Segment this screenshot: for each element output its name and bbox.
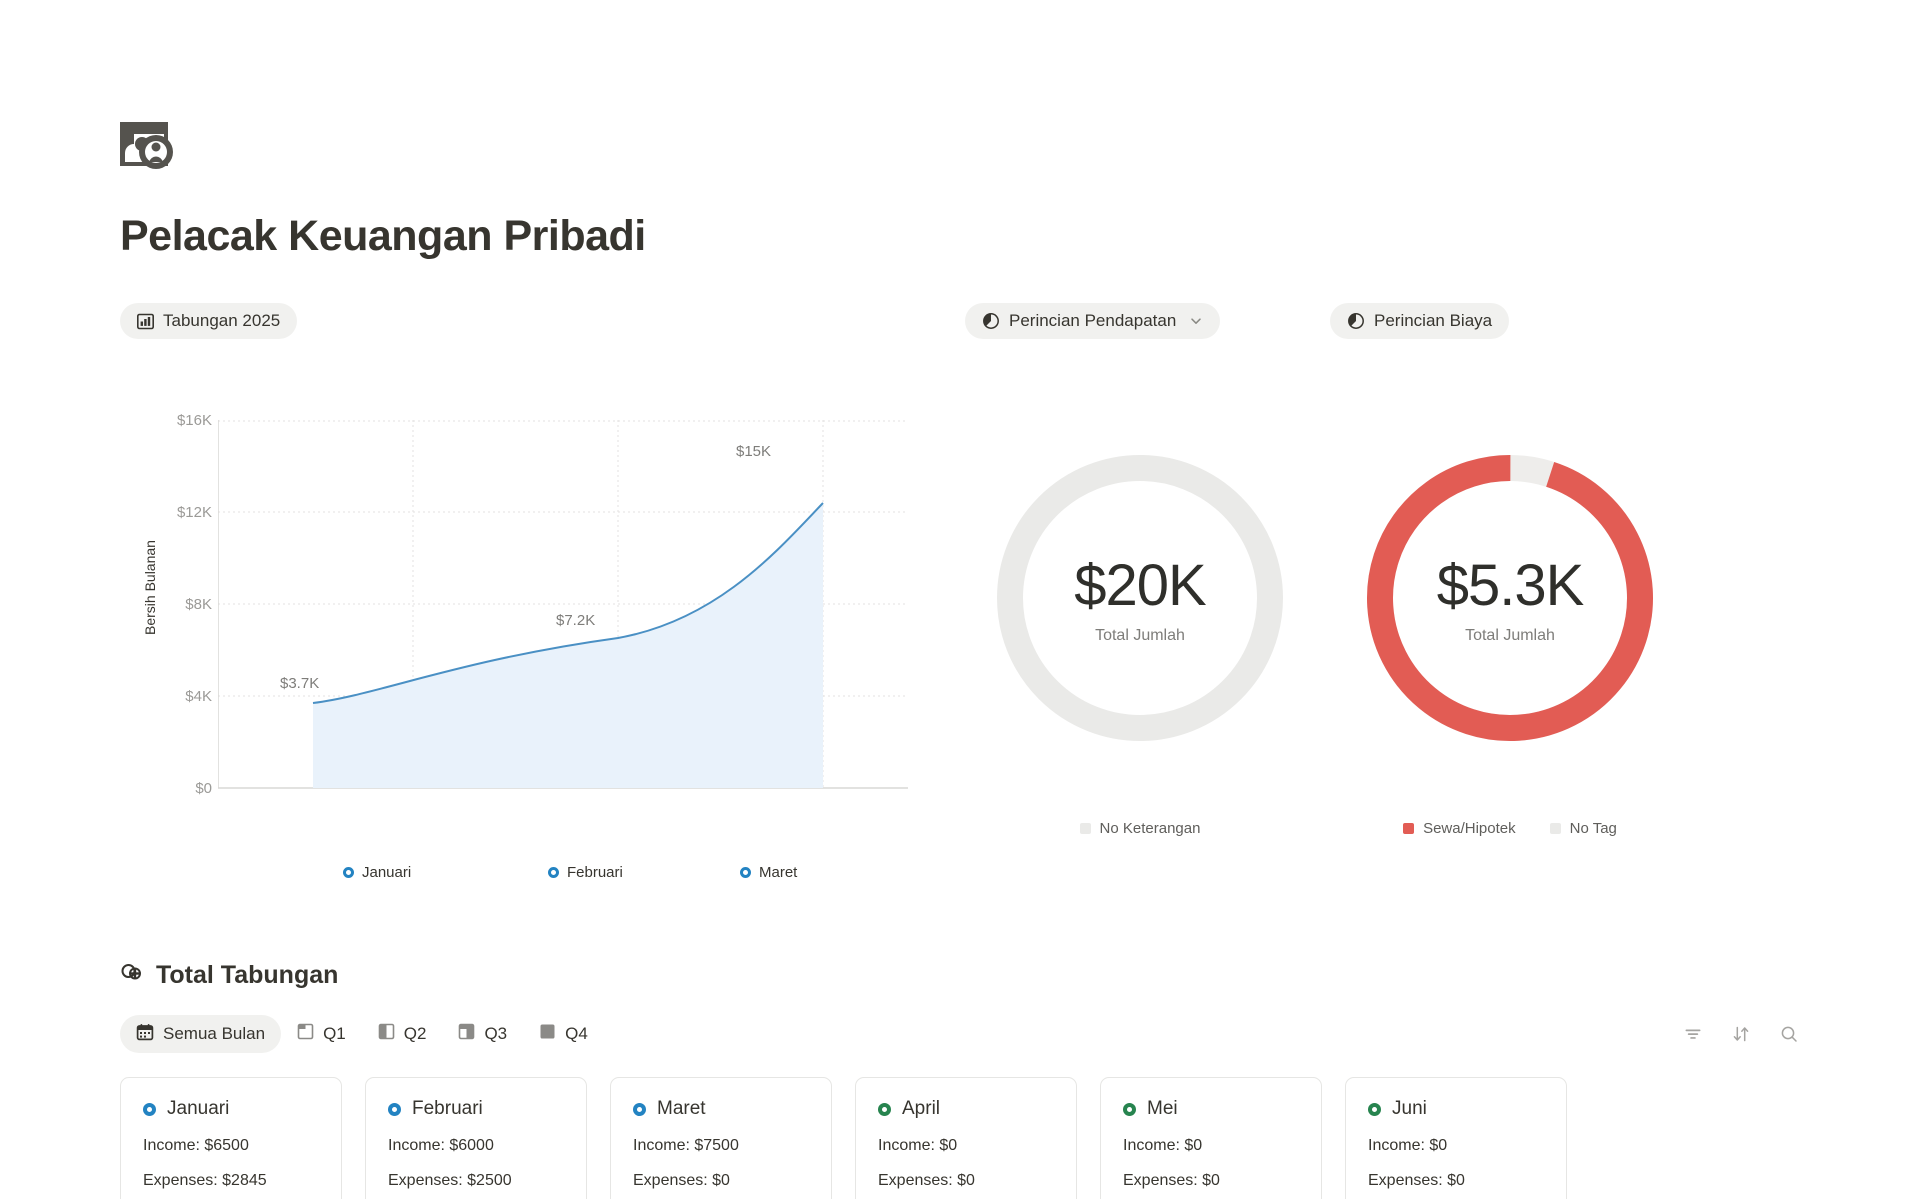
tab-semua-bulan[interactable]: Semua Bulan bbox=[120, 1015, 281, 1053]
card-expenses: Expenses: $0 bbox=[1123, 1172, 1299, 1190]
tab-tabungan-2025[interactable]: Tabungan 2025 bbox=[120, 303, 297, 339]
legend-item-maret[interactable]: Maret bbox=[740, 864, 797, 881]
savings-icon bbox=[120, 960, 144, 991]
tab-q1[interactable]: Q1 bbox=[281, 1015, 362, 1053]
tab-biaya-label: Perincian Biaya bbox=[1374, 311, 1492, 331]
card-month: Mei bbox=[1147, 1098, 1178, 1120]
legend-item-no-tag[interactable]: No Tag bbox=[1550, 820, 1617, 837]
legend-swatch-icon bbox=[1403, 823, 1414, 834]
list-item[interactable]: April Income: $0 Expenses: $0 bbox=[855, 1077, 1077, 1199]
card-month: Maret bbox=[657, 1098, 706, 1120]
month-marker-icon bbox=[878, 1103, 891, 1116]
savings-area-chart: Bersih Bulanan $16K $12K $8K $4K $0 bbox=[120, 420, 910, 920]
card-income: Income: $7500 bbox=[633, 1137, 809, 1155]
section-title-label: Total Tabungan bbox=[156, 961, 338, 990]
card-expenses: Expenses: $0 bbox=[1368, 1172, 1544, 1190]
expense-total-label: Total Jumlah bbox=[1465, 627, 1555, 645]
search-icon[interactable] bbox=[1778, 1023, 1800, 1045]
y-tick: $0 bbox=[120, 780, 212, 797]
widget-pills-row: Tabungan 2025 Perincian Pendapatan Perin… bbox=[120, 303, 1800, 339]
expense-donut-legend: Sewa/Hipotek No Tag bbox=[1300, 820, 1720, 837]
card-income: Income: $0 bbox=[1368, 1137, 1544, 1155]
income-donut-chart: $20K Total Jumlah bbox=[990, 448, 1290, 748]
legend-label: Februari bbox=[567, 864, 623, 881]
month-marker-icon bbox=[1368, 1103, 1381, 1116]
y-tick: $12K bbox=[120, 504, 212, 521]
card-month: Januari bbox=[167, 1098, 229, 1120]
total-tabungan-section: Total Tabungan Semua Bulan Q1 Q2 bbox=[120, 960, 1800, 1199]
card-expenses: Expenses: $0 bbox=[633, 1172, 809, 1190]
legend-label: Januari bbox=[362, 864, 411, 881]
section-header: Total Tabungan bbox=[120, 960, 1800, 991]
legend-label: No Tag bbox=[1570, 820, 1617, 837]
month-marker-icon bbox=[388, 1103, 401, 1116]
tab-tabungan-label: Tabungan 2025 bbox=[163, 311, 280, 331]
expense-total-value: $5.3K bbox=[1437, 552, 1584, 619]
tab-label: Q3 bbox=[484, 1024, 507, 1044]
list-item[interactable]: Juni Income: $0 Expenses: $0 bbox=[1345, 1077, 1567, 1199]
card-income: Income: $0 bbox=[878, 1137, 1054, 1155]
y-tick: $8K bbox=[120, 596, 212, 613]
expense-donut-chart: $5.3K Total Jumlah bbox=[1360, 448, 1660, 748]
month-tabs: Semua Bulan Q1 Q2 Q3 bbox=[120, 1015, 1800, 1053]
legend-item-sewa-hipotek[interactable]: Sewa/Hipotek bbox=[1403, 820, 1516, 837]
tab-perincian-biaya[interactable]: Perincian Biaya bbox=[1330, 303, 1509, 339]
month-marker-icon bbox=[633, 1103, 646, 1116]
month-marker-icon bbox=[1123, 1103, 1136, 1116]
legend-label: Sewa/Hipotek bbox=[1423, 820, 1516, 837]
card-expenses: Expenses: $2845 bbox=[143, 1172, 319, 1190]
filter-icon[interactable] bbox=[1682, 1023, 1704, 1045]
tab-label: Semua Bulan bbox=[163, 1024, 265, 1044]
legend-swatch-icon bbox=[1080, 823, 1091, 834]
month-cards: Januari Income: $6500 Expenses: $2845 Fe… bbox=[120, 1077, 1800, 1199]
legend-marker-icon bbox=[343, 867, 354, 878]
page-title: Pelacak Keuangan Pribadi bbox=[120, 212, 1800, 261]
table-toolbar bbox=[1682, 1023, 1800, 1045]
point-label: $7.2K bbox=[556, 612, 595, 629]
chevron-down-icon[interactable] bbox=[1189, 314, 1203, 328]
quarter-3-icon bbox=[458, 1023, 475, 1045]
quarter-2-icon bbox=[378, 1023, 395, 1045]
sort-icon[interactable] bbox=[1730, 1023, 1752, 1045]
tab-q2[interactable]: Q2 bbox=[362, 1015, 443, 1053]
legend-marker-icon bbox=[548, 867, 559, 878]
tab-perincian-pendapatan[interactable]: Perincian Pendapatan bbox=[965, 303, 1220, 339]
income-donut-widget: $20K Total Jumlah No Keterangan bbox=[930, 420, 1350, 920]
card-month: April bbox=[902, 1098, 940, 1120]
expense-donut-widget: $5.3K Total Jumlah Sewa/Hipotek No Tag bbox=[1300, 420, 1720, 920]
point-label: $15K bbox=[736, 443, 771, 460]
income-total-value: $20K bbox=[1074, 552, 1205, 619]
point-label: $3.7K bbox=[280, 675, 319, 692]
pie-chart-icon bbox=[982, 312, 1000, 330]
chart-y-axis: $16K $12K $8K $4K $0 bbox=[120, 420, 212, 870]
card-month: Februari bbox=[412, 1098, 483, 1120]
legend-label: No Keterangan bbox=[1100, 820, 1201, 837]
pie-chart-icon bbox=[1347, 312, 1365, 330]
legend-label: Maret bbox=[759, 864, 797, 881]
tab-label: Q2 bbox=[404, 1024, 427, 1044]
list-item[interactable]: Maret Income: $7500 Expenses: $0 bbox=[610, 1077, 832, 1199]
legend-item-januari[interactable]: Januari bbox=[343, 864, 411, 881]
card-expenses: Expenses: $2500 bbox=[388, 1172, 564, 1190]
tab-label: Q1 bbox=[323, 1024, 346, 1044]
quarter-1-icon bbox=[297, 1023, 314, 1045]
card-expenses: Expenses: $0 bbox=[878, 1172, 1054, 1190]
list-item[interactable]: Januari Income: $6500 Expenses: $2845 bbox=[120, 1077, 342, 1199]
chart-plot-area: $3.7K $7.2K $15K bbox=[218, 420, 908, 800]
tab-q4[interactable]: Q4 bbox=[523, 1015, 604, 1053]
tab-label: Q4 bbox=[565, 1024, 588, 1044]
quarter-4-icon bbox=[539, 1023, 556, 1045]
card-month: Juni bbox=[1392, 1098, 1427, 1120]
app-page: Pelacak Keuangan Pribadi Tabungan 2025 P… bbox=[0, 0, 1920, 1199]
legend-swatch-icon bbox=[1550, 823, 1561, 834]
card-income: Income: $0 bbox=[1123, 1137, 1299, 1155]
card-income: Income: $6000 bbox=[388, 1137, 564, 1155]
list-item[interactable]: Februari Income: $6000 Expenses: $2500 bbox=[365, 1077, 587, 1199]
income-total-label: Total Jumlah bbox=[1095, 627, 1185, 645]
legend-item-februari[interactable]: Februari bbox=[548, 864, 623, 881]
money-person-icon bbox=[120, 122, 1800, 174]
y-tick: $4K bbox=[120, 688, 212, 705]
tab-q3[interactable]: Q3 bbox=[442, 1015, 523, 1053]
calendar-icon bbox=[136, 1023, 154, 1046]
y-tick: $16K bbox=[120, 412, 212, 429]
list-item[interactable]: Mei Income: $0 Expenses: $0 bbox=[1100, 1077, 1322, 1199]
page-header: Pelacak Keuangan Pribadi bbox=[120, 0, 1800, 261]
bar-chart-icon bbox=[137, 313, 154, 330]
legend-item-no-keterangan[interactable]: No Keterangan bbox=[1080, 820, 1201, 837]
income-donut-legend: No Keterangan bbox=[930, 820, 1350, 837]
card-income: Income: $6500 bbox=[143, 1137, 319, 1155]
tab-pendapatan-label: Perincian Pendapatan bbox=[1009, 311, 1176, 331]
widgets-row: Bersih Bulanan $16K $12K $8K $4K $0 bbox=[120, 420, 1800, 920]
legend-marker-icon bbox=[740, 867, 751, 878]
month-marker-icon bbox=[143, 1103, 156, 1116]
